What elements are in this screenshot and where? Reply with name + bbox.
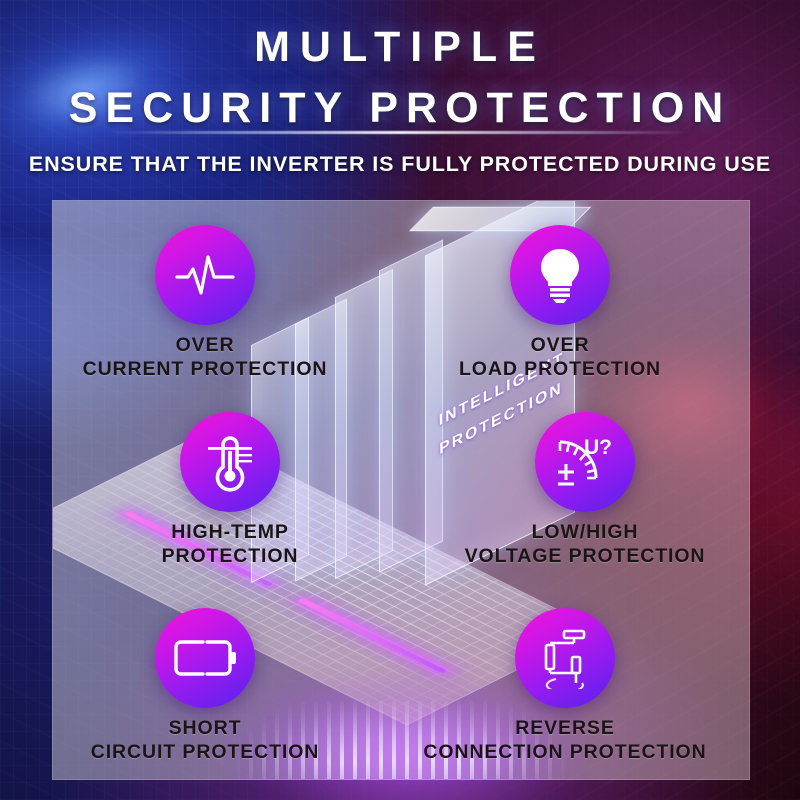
feature-reverse-connection-protection[interactable]: REVERSE CONNECTION PROTECTION [420, 608, 710, 765]
feature-label-line-2: VOLTAGE PROTECTION [440, 545, 730, 569]
feature-short-circuit-protection[interactable]: SHORT CIRCUIT PROTECTION [60, 608, 350, 765]
feature-over-current-protection[interactable]: OVER CURRENT PROTECTION [60, 225, 350, 382]
feature-label-line-1: HIGH-TEMP [85, 521, 375, 545]
feature-label-voltage: LOW/HIGH VOLTAGE PROTECTION [440, 521, 730, 569]
voltage-gauge-icon: U? [552, 432, 618, 492]
feature-low-high-voltage-protection[interactable]: U? LOW/HIGH VOLTAGE PROTECTION [440, 412, 730, 569]
feature-label-line-2: CONNECTION PROTECTION [420, 741, 710, 765]
badge-high-temp[interactable] [180, 412, 280, 512]
badge-voltage[interactable]: U? [535, 412, 635, 512]
gauge-symbol-text: U? [584, 436, 612, 459]
badge-short-circuit[interactable] [155, 608, 255, 708]
badge-reverse-connection[interactable] [515, 608, 615, 708]
feature-label-line-2: CIRCUIT PROTECTION [60, 741, 350, 765]
page-title-line-2: SECURITY PROTECTION [0, 87, 800, 130]
title-divider [110, 131, 690, 134]
thermometer-icon [200, 431, 260, 493]
security-protection-infographic: MULTIPLE SECURITY PROTECTION ENSURE THAT… [0, 0, 800, 800]
badge-over-current[interactable] [155, 225, 255, 325]
feature-label-line-2: PROTECTION [85, 545, 375, 569]
feature-high-temp-protection[interactable]: HIGH-TEMP PROTECTION [85, 412, 375, 569]
feature-label-line-1: OVER [415, 334, 705, 358]
lightbulb-icon [537, 246, 583, 304]
feature-label-over-load: OVER LOAD PROTECTION [415, 334, 705, 382]
feature-label-line-1: SHORT [60, 717, 350, 741]
page-subtitle: ENSURE THAT THE INVERTER IS FULLY PROTEC… [0, 152, 800, 177]
feature-label-line-1: OVER [60, 334, 350, 358]
feature-label-short-circuit: SHORT CIRCUIT PROTECTION [60, 717, 350, 765]
feature-label-reverse-connection: REVERSE CONNECTION PROTECTION [420, 717, 710, 765]
feature-over-load-protection[interactable]: OVER LOAD PROTECTION [415, 225, 705, 382]
feature-label-over-current: OVER CURRENT PROTECTION [60, 334, 350, 382]
header: MULTIPLE SECURITY PROTECTION ENSURE THAT… [0, 0, 800, 200]
badge-over-load[interactable] [510, 225, 610, 325]
feature-label-line-2: CURRENT PROTECTION [60, 358, 350, 382]
feature-label-high-temp: HIGH-TEMP PROTECTION [85, 521, 375, 569]
page-title-line-1: MULTIPLE [0, 26, 800, 69]
circuit-connection-icon [536, 627, 594, 689]
broken-battery-icon [173, 639, 237, 677]
feature-label-line-1: LOW/HIGH [440, 521, 730, 545]
waveform-pulse-icon [174, 251, 236, 299]
feature-label-line-1: REVERSE [420, 717, 710, 741]
feature-label-line-2: LOAD PROTECTION [415, 358, 705, 382]
